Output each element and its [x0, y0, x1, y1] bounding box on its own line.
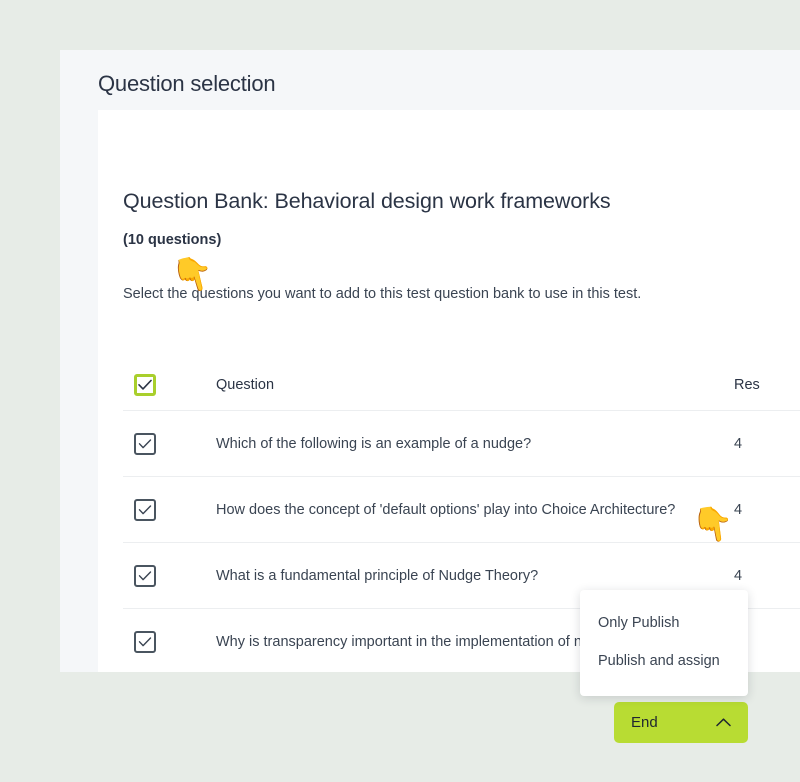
row-checkbox[interactable]: [134, 433, 156, 455]
dropdown-item-only-publish[interactable]: Only Publish: [580, 604, 748, 642]
row-checkbox[interactable]: [134, 565, 156, 587]
row-checkbox-cell[interactable]: [123, 499, 183, 521]
select-all-checkbox[interactable]: [134, 374, 156, 396]
pointing-hand-down-icon: 👇: [169, 253, 218, 296]
column-header-responses: Res: [703, 377, 800, 393]
row-checkbox[interactable]: [134, 499, 156, 521]
row-responses-count: 4: [703, 568, 800, 584]
row-question-text: Which of the following is an example of …: [183, 436, 703, 452]
column-header-question: Question: [183, 377, 703, 393]
page-title: Question selection: [98, 70, 800, 98]
row-checkbox-cell[interactable]: [123, 433, 183, 455]
modal-header: Question selection: [60, 50, 800, 110]
question-count-label: (10 questions): [123, 232, 221, 248]
row-question-text: How does the concept of 'default options…: [183, 502, 703, 518]
row-question-text: What is a fundamental principle of Nudge…: [183, 568, 703, 584]
question-bank-title: Question Bank: Behavioral design work fr…: [123, 189, 611, 214]
table-header-row: Question Res: [123, 360, 800, 410]
chevron-up-icon[interactable]: [716, 718, 731, 727]
content-panel: Question Bank: Behavioral design work fr…: [98, 110, 800, 672]
end-button-label: End: [631, 714, 658, 731]
row-checkbox-cell[interactable]: [123, 631, 183, 653]
row-checkbox-cell[interactable]: [123, 565, 183, 587]
select-all-cell[interactable]: [123, 374, 183, 396]
dropdown-item-publish-and-assign[interactable]: Publish and assign: [580, 642, 748, 680]
row-checkbox[interactable]: [134, 631, 156, 653]
row-responses-count: 4: [703, 436, 800, 452]
pointing-hand-down-icon: 👇: [690, 505, 737, 545]
table-row[interactable]: Which of the following is an example of …: [123, 410, 800, 476]
publish-dropdown-menu: Only Publish Publish and assign: [580, 590, 748, 696]
question-selection-modal: Question selection Question Bank: Behavi…: [60, 50, 800, 672]
end-button[interactable]: End: [614, 702, 748, 743]
